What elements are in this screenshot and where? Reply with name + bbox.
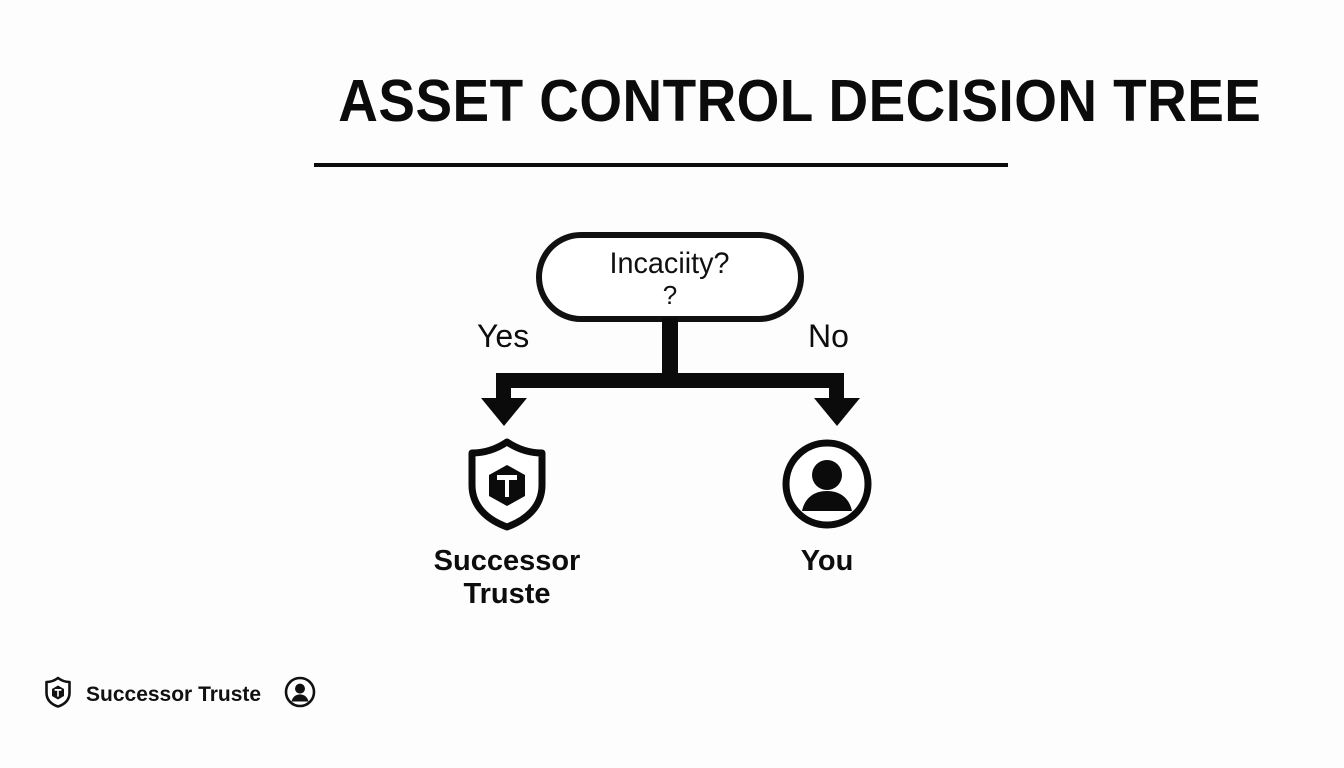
branch-label-no: No (808, 319, 849, 353)
title-divider (314, 163, 1008, 167)
shield-cube-icon (387, 437, 627, 531)
arrow-down-icon-left (481, 398, 527, 426)
decision-node[interactable]: Incaciity? ? (536, 232, 804, 322)
decision-node-label: Incaciity? (610, 247, 730, 281)
branch-label-yes: Yes (477, 319, 529, 353)
connector-horizontal-bar (496, 373, 844, 388)
outcome-label-successor-trustee: Successor Truste (387, 545, 627, 611)
page-title: ASSET CONTROL DECISION TREE (338, 66, 983, 136)
outcome-label-you: You (707, 545, 947, 578)
decision-node-sublabel: ? (663, 282, 677, 308)
outcome-node-successor-trustee[interactable]: Successor Truste (387, 437, 627, 611)
user-circle-icon (707, 437, 947, 531)
footer-brand-name: Successor Truste (86, 683, 261, 707)
arrow-down-icon-right (814, 398, 860, 426)
user-circle-icon (284, 676, 316, 713)
outcome-node-you[interactable]: You (707, 437, 947, 578)
slide-canvas: ASSET CONTROL DECISION TREE Incaciity? ?… (0, 0, 1344, 768)
footer: Successor Truste (44, 676, 316, 713)
shield-cube-icon (44, 676, 72, 713)
title-block: ASSET CONTROL DECISION TREE (314, 66, 1008, 136)
connector-stem (662, 318, 678, 380)
